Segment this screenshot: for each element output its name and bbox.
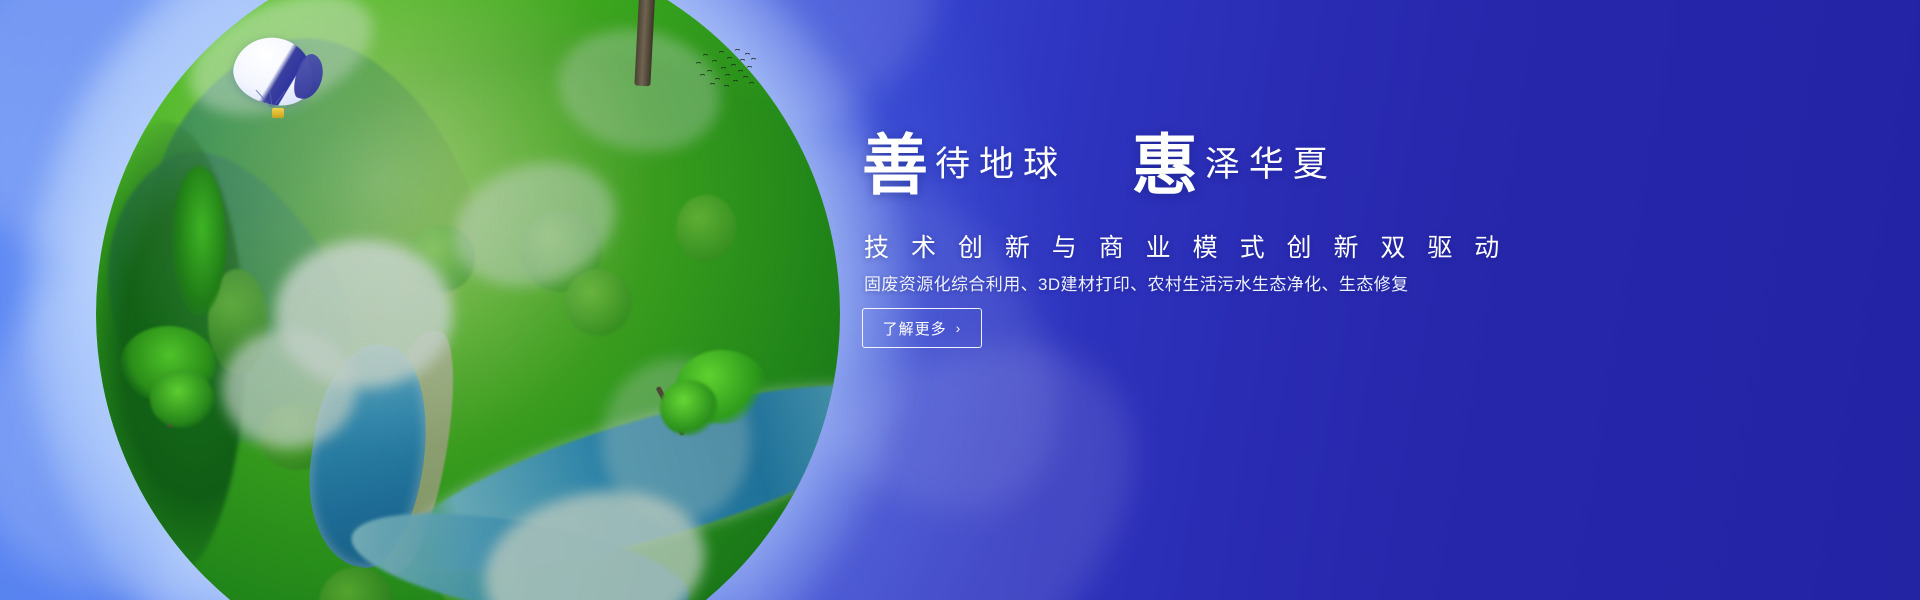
learn-more-label: 了解更多	[883, 318, 947, 339]
headline-lead-char-1: 善	[862, 126, 929, 204]
rim-tree	[652, 332, 772, 452]
headline-rest-1: 待地球	[935, 145, 1067, 185]
hero-subtitle: 技 术 创 新 与 商 业 模 式 创 新 双 驱 动	[864, 228, 1507, 264]
globe-cloud	[222, 329, 356, 448]
lake	[297, 337, 439, 574]
headline-rest-2: 泽华夏	[1205, 145, 1337, 185]
tree-clump	[438, 537, 527, 600]
globe-cloud	[275, 240, 454, 389]
balloon-basket	[272, 108, 284, 118]
bird-flock	[694, 48, 754, 90]
globe-cloud	[470, 471, 719, 600]
rim-tree	[162, 156, 232, 336]
chevron-right-icon: ›	[956, 321, 962, 335]
learn-more-button[interactable]: 了解更多 ›	[862, 308, 982, 348]
hero-banner: 善待地球 惠泽华夏 技 术 创 新 与 商 业 模 式 创 新 双 驱 动 固废…	[0, 0, 1920, 600]
headline-segment-2: 惠泽华夏	[1132, 132, 1337, 198]
hero-headline: 善待地球 惠泽华夏	[862, 132, 1562, 218]
tree-clump	[260, 403, 334, 470]
soil-patch	[513, 463, 617, 545]
balloon-lines-icon	[254, 90, 288, 108]
hot-air-balloon	[234, 38, 326, 124]
globe-cloud	[439, 143, 631, 307]
tree-clump	[676, 195, 736, 262]
globe-image	[96, 0, 840, 600]
hero-description: 固废资源化综合利用、3D建材打印、农村生活污水生态净化、生态修复	[864, 270, 1409, 295]
tree-clump	[520, 210, 602, 292]
headline-segment-1: 善待地球	[862, 132, 1067, 198]
hero-content: 善待地球 惠泽华夏 技 术 创 新 与 商 业 模 式 创 新 双 驱 动 固废…	[862, 0, 1862, 600]
tree-clump	[565, 269, 632, 336]
river	[344, 493, 697, 600]
tree-clump	[408, 225, 475, 292]
lake-shore	[358, 325, 467, 578]
headline-lead-char-2: 惠	[1132, 126, 1199, 204]
tree-clump	[319, 567, 393, 600]
